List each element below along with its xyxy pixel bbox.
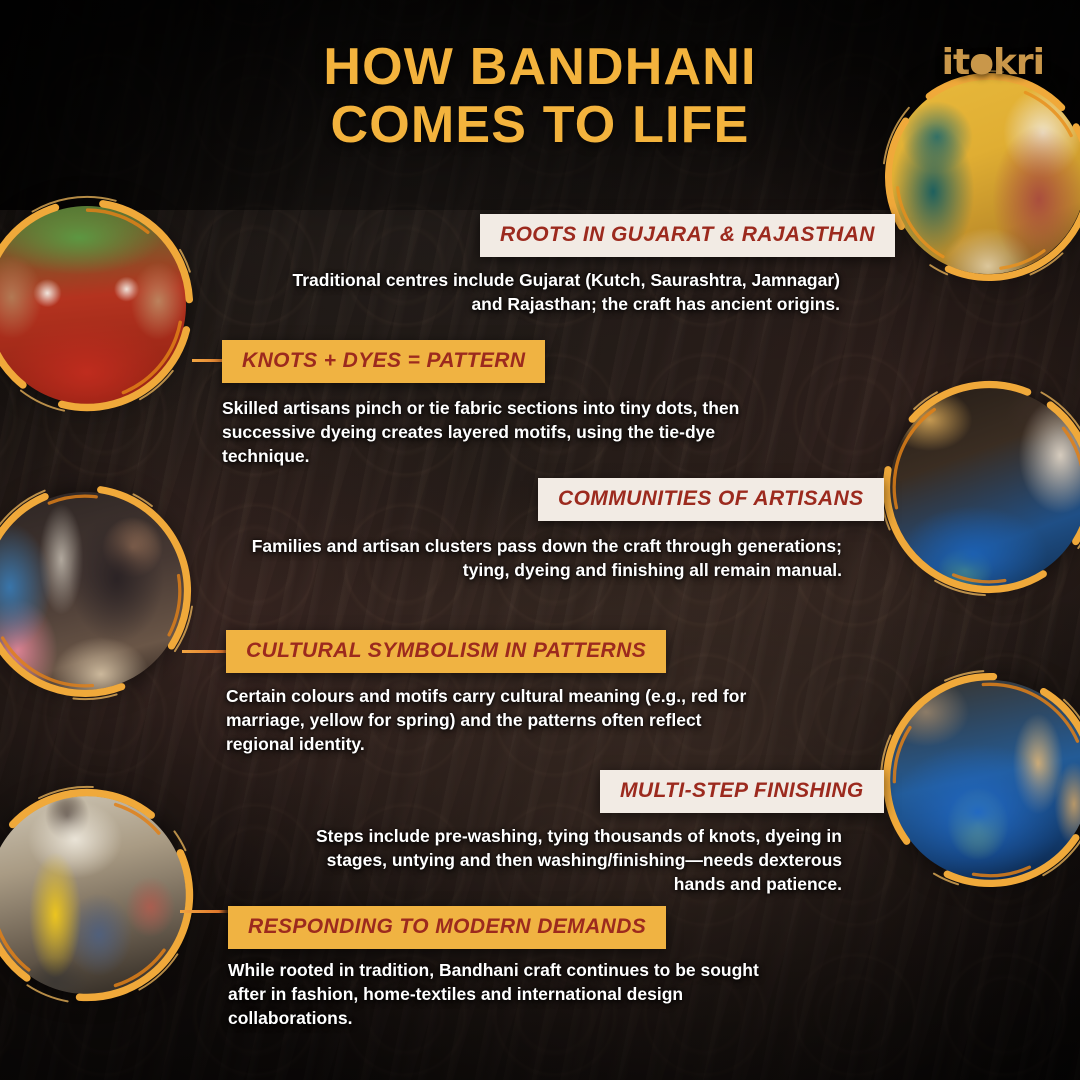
section-label-modern[interactable]: RESPONDING TO MODERN DEMANDS: [228, 906, 666, 949]
logo-text-post: kri: [993, 42, 1044, 83]
photo-scene-women-knotting: [0, 492, 184, 690]
photo-scene-dye-vat: [890, 680, 1080, 880]
section-body-roots: Traditional centres include Gujarat (Kut…: [260, 268, 840, 316]
connector-modern: [180, 910, 230, 913]
infographic-poster: HOW BANDHANI COMES TO LIFE itokri: [0, 0, 1080, 1080]
title-line-2: COMES TO LIFE: [330, 96, 749, 154]
section-label-symbolism[interactable]: CULTURAL SYMBOLISM IN PATTERNS: [226, 630, 666, 673]
section-body-communities: Families and artisan clusters pass down …: [240, 534, 842, 582]
section-label-roots[interactable]: ROOTS IN GUJARAT & RAJASTHAN: [480, 214, 895, 257]
itokri-logo[interactable]: itokri: [942, 42, 1044, 83]
section-body-symbolism: Certain colours and motifs carry cultura…: [226, 684, 768, 756]
photo-dyer-blue-tub: [890, 388, 1080, 586]
section-body-knots: Skilled artisans pinch or tie fabric sec…: [222, 396, 752, 468]
photo-blue-dye-vat: [890, 680, 1080, 880]
title-line-1: HOW BANDHANI: [323, 38, 756, 96]
photo-yellow-dye-lift: [0, 796, 186, 994]
logo-text-pre: it: [942, 42, 970, 83]
section-body-modern: While rooted in tradition, Bandhani craf…: [228, 958, 784, 1030]
photo-scene-hands-red: [0, 206, 186, 404]
photo-hands-red-fabric: [0, 206, 186, 404]
page-title: HOW BANDHANI COMES TO LIFE: [0, 38, 1080, 154]
section-body-finishing: Steps include pre-washing, tying thousan…: [304, 824, 842, 896]
logo-dot-icon: [973, 58, 988, 73]
section-label-knots[interactable]: KNOTS + DYES = PATTERN: [222, 340, 545, 383]
photo-women-knotting: [0, 492, 184, 690]
section-label-communities[interactable]: COMMUNITIES OF ARTISANS: [538, 478, 884, 521]
logo-o-mark: o: [969, 42, 993, 83]
section-label-finishing[interactable]: MULTI-STEP FINISHING: [600, 770, 884, 813]
photo-scene-dyer-tub: [890, 388, 1080, 586]
photo-scene-yellow-lift: [0, 796, 186, 994]
